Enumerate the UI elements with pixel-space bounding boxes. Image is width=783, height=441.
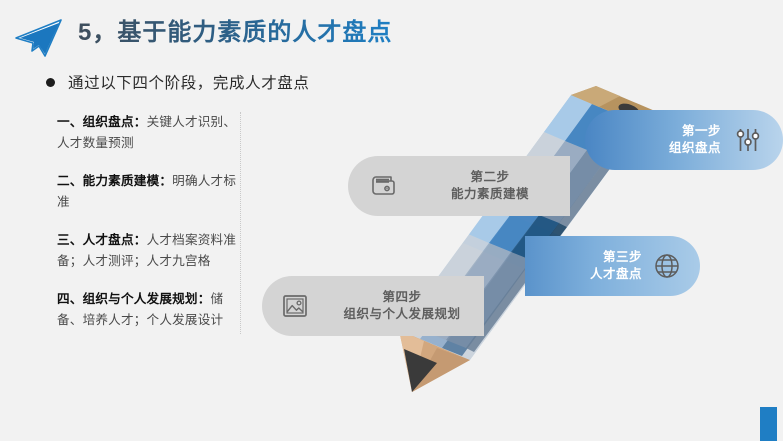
step-pill-2[interactable]: 第二步 能力素质建模	[348, 156, 570, 216]
step-2-line1: 第二步	[410, 169, 570, 186]
step-2-label: 第二步 能力素质建模	[410, 169, 570, 203]
step-2-line2: 能力素质建模	[410, 186, 570, 203]
list-item: 四、组织与个人发展规划：储备、培养人才；个人发展设计	[57, 289, 247, 331]
step-pill-3[interactable]: 第三步 人才盘点	[525, 236, 700, 296]
step-pill-1[interactable]: 第一步 组织盘点	[585, 110, 783, 170]
list-item: 二、能力素质建模：明确人才标准	[57, 171, 247, 213]
step-4-line2: 组织与个人发展规划	[320, 306, 484, 323]
image-icon	[280, 291, 310, 321]
wallet-icon	[368, 171, 398, 201]
stage-list: 一、组织盘点：关键人才识别、人才数量预测 二、能力素质建模：明确人才标准 三、人…	[57, 112, 247, 331]
step-1-line1: 第一步	[669, 123, 721, 140]
slide-canvas: 5，基于能力素质的人才盘点 通过以下四个阶段，完成人才盘点 一、组织盘点：关键人…	[0, 0, 783, 441]
stage-heading: 三、人才盘点：	[57, 233, 147, 247]
sliders-icon	[733, 125, 763, 155]
step-3-label: 第三步 人才盘点	[590, 249, 642, 283]
step-4-label: 第四步 组织与个人发展规划	[320, 289, 484, 323]
paper-plane-icon	[12, 16, 68, 58]
column-divider	[240, 112, 241, 334]
stage-heading: 一、组织盘点：	[57, 115, 147, 129]
step-4-line1: 第四步	[320, 289, 484, 306]
corner-accent-bar	[760, 407, 777, 441]
globe-icon	[652, 251, 682, 281]
list-item: 一、组织盘点：关键人才识别、人才数量预测	[57, 112, 247, 154]
step-1-label: 第一步 组织盘点	[669, 123, 721, 157]
bullet-dot-icon	[46, 78, 55, 87]
list-item: 三、人才盘点：人才档案资料准备；人才测评；人才九宫格	[57, 230, 247, 272]
stage-heading: 二、能力素质建模：	[57, 174, 172, 188]
step-pill-4[interactable]: 第四步 组织与个人发展规划	[262, 276, 484, 336]
page-title: 5，基于能力素质的人才盘点	[78, 16, 392, 50]
lead-statement: 通过以下四个阶段，完成人才盘点	[46, 71, 310, 93]
lead-statement-text: 通过以下四个阶段，完成人才盘点	[68, 71, 310, 93]
stage-heading: 四、组织与个人发展规划：	[57, 292, 211, 306]
step-3-line2: 人才盘点	[590, 266, 642, 283]
step-1-line2: 组织盘点	[669, 140, 721, 157]
step-3-line1: 第三步	[590, 249, 642, 266]
